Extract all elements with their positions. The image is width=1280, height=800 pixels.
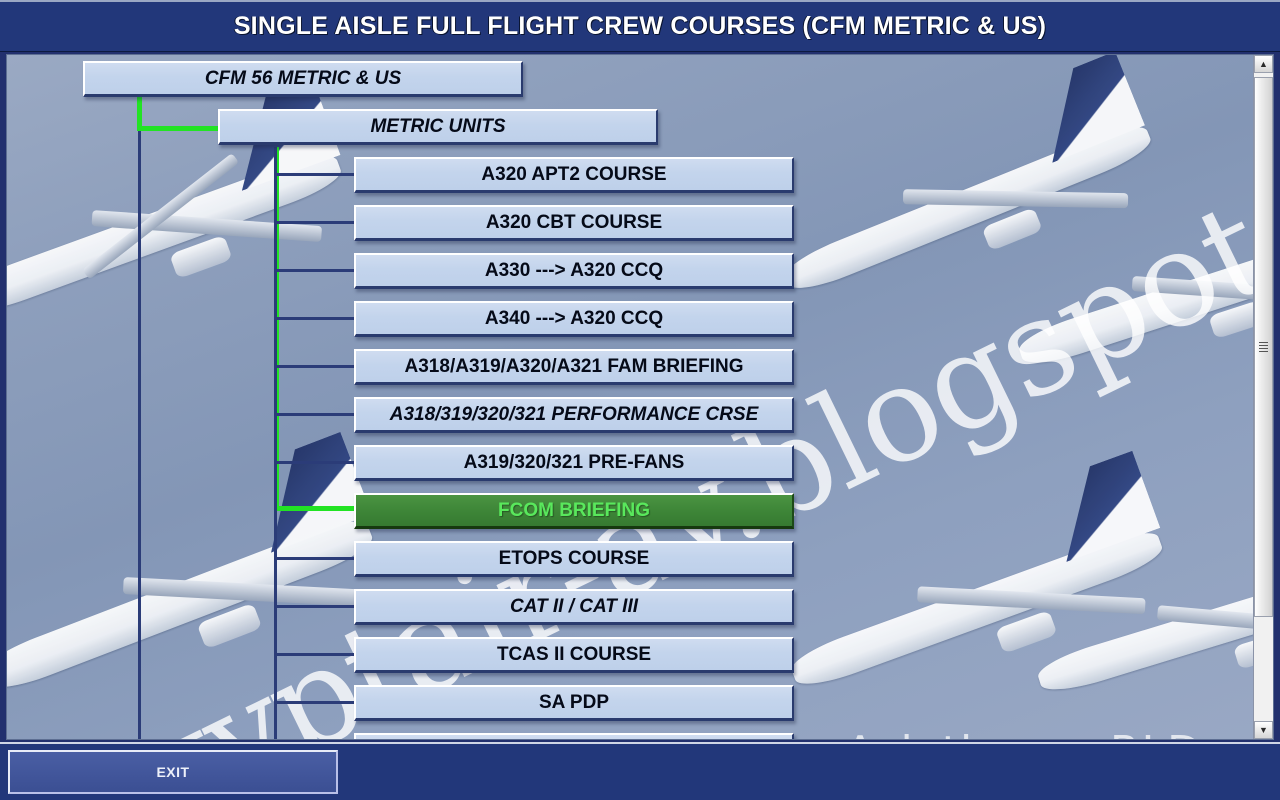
node-metric-units[interactable]: METRIC UNITS [218,109,658,145]
scrollbar-track[interactable] [1254,73,1273,721]
aircraft-illustration [753,420,1221,740]
application-window: SINGLE AISLE FULL FLIGHT CREW COURSES (C… [0,0,1280,800]
connector-stub [274,365,364,368]
connector-stub [274,173,364,176]
connector-stub [274,557,364,560]
course-button-fcom-briefing[interactable]: FCOM BRIEFING [354,493,794,529]
scroll-up-arrow-icon[interactable]: ▲ [1254,55,1273,73]
course-button-cat2-cat3[interactable]: CAT II / CAT III [354,589,794,625]
course-button-pre-fans[interactable]: A319/320/321 PRE-FANS [354,445,794,481]
node-metric-units-label: METRIC UNITS [370,116,505,138]
course-button-a320-cbt[interactable]: A320 CBT COURSE [354,205,794,241]
connector-stub [274,413,364,416]
course-label: A318/319/320/321 PERFORMANCE CRSE [390,404,759,426]
course-label: A318/A319/A320/A321 FAM BRIEFING [405,356,744,378]
brand-watermark: Aviation woRLD [845,727,1202,740]
diagram-canvas: egyptair-av.blogspot.com Aviation woRLD … [6,54,1274,740]
connector-stub [274,461,364,464]
connector-stub [274,701,364,704]
course-label: CAT II / CAT III [510,596,638,618]
node-cfm56-label: CFM 56 METRIC & US [205,68,401,90]
connector-stub [274,221,364,224]
connector-stub [274,317,364,320]
aircraft-illustration [743,54,1211,366]
aircraft-illustration [984,118,1274,441]
course-button-tcas2[interactable]: TCAS II COURSE [354,637,794,673]
connector-navy-outer-spine [138,131,141,740]
course-button-etops[interactable]: ETOPS COURSE [354,541,794,577]
course-label: SA PDP [539,692,609,714]
scrollbar-thumb[interactable] [1254,77,1273,617]
course-button-sa-pdp[interactable]: SA PDP [354,685,794,721]
scroll-down-arrow-icon[interactable]: ▼ [1254,721,1273,739]
connector-green-horizontal-selected [274,506,364,511]
course-button-a330-a320-ccq[interactable]: A330 ---> A320 CCQ [354,253,794,289]
footer-bar: EXIT [0,742,1280,800]
window-title-bar: SINGLE AISLE FULL FLIGHT CREW COURSES (C… [0,0,1280,52]
course-label: A320 CBT COURSE [486,212,662,234]
connector-green-horizontal-branch [137,126,223,131]
exit-button-label: EXIT [156,764,189,780]
node-cfm56-metric-us[interactable]: CFM 56 METRIC & US [83,61,523,97]
page-title: SINGLE AISLE FULL FLIGHT CREW COURSES (C… [234,12,1046,41]
course-button-briefing-guides[interactable]: BRIEFING GUIDES [354,733,794,740]
course-button-a320-apt2[interactable]: A320 APT2 COURSE [354,157,794,193]
course-label: BRIEFING GUIDES [490,740,659,741]
course-label: FCOM BRIEFING [498,500,650,522]
scrollbar-grip-icon [1259,342,1268,352]
course-label: TCAS II COURSE [497,644,651,666]
connector-stub [274,269,364,272]
connector-stub [274,653,364,656]
course-button-a340-a320-ccq[interactable]: A340 ---> A320 CCQ [354,301,794,337]
course-label: A319/320/321 PRE-FANS [464,452,685,474]
connector-navy-inner-spine [274,147,277,740]
exit-button[interactable]: EXIT [8,750,338,794]
course-label: A320 APT2 COURSE [481,164,666,186]
aircraft-illustration [1005,451,1274,740]
course-label: A330 ---> A320 CCQ [485,260,663,282]
vertical-scrollbar[interactable]: ▲ ▼ [1253,55,1273,739]
course-button-fam-briefing[interactable]: A318/A319/A320/A321 FAM BRIEFING [354,349,794,385]
course-label: A340 ---> A320 CCQ [485,308,663,330]
connector-stub [274,605,364,608]
course-label: ETOPS COURSE [499,548,650,570]
course-button-performance-crse[interactable]: A318/319/320/321 PERFORMANCE CRSE [354,397,794,433]
